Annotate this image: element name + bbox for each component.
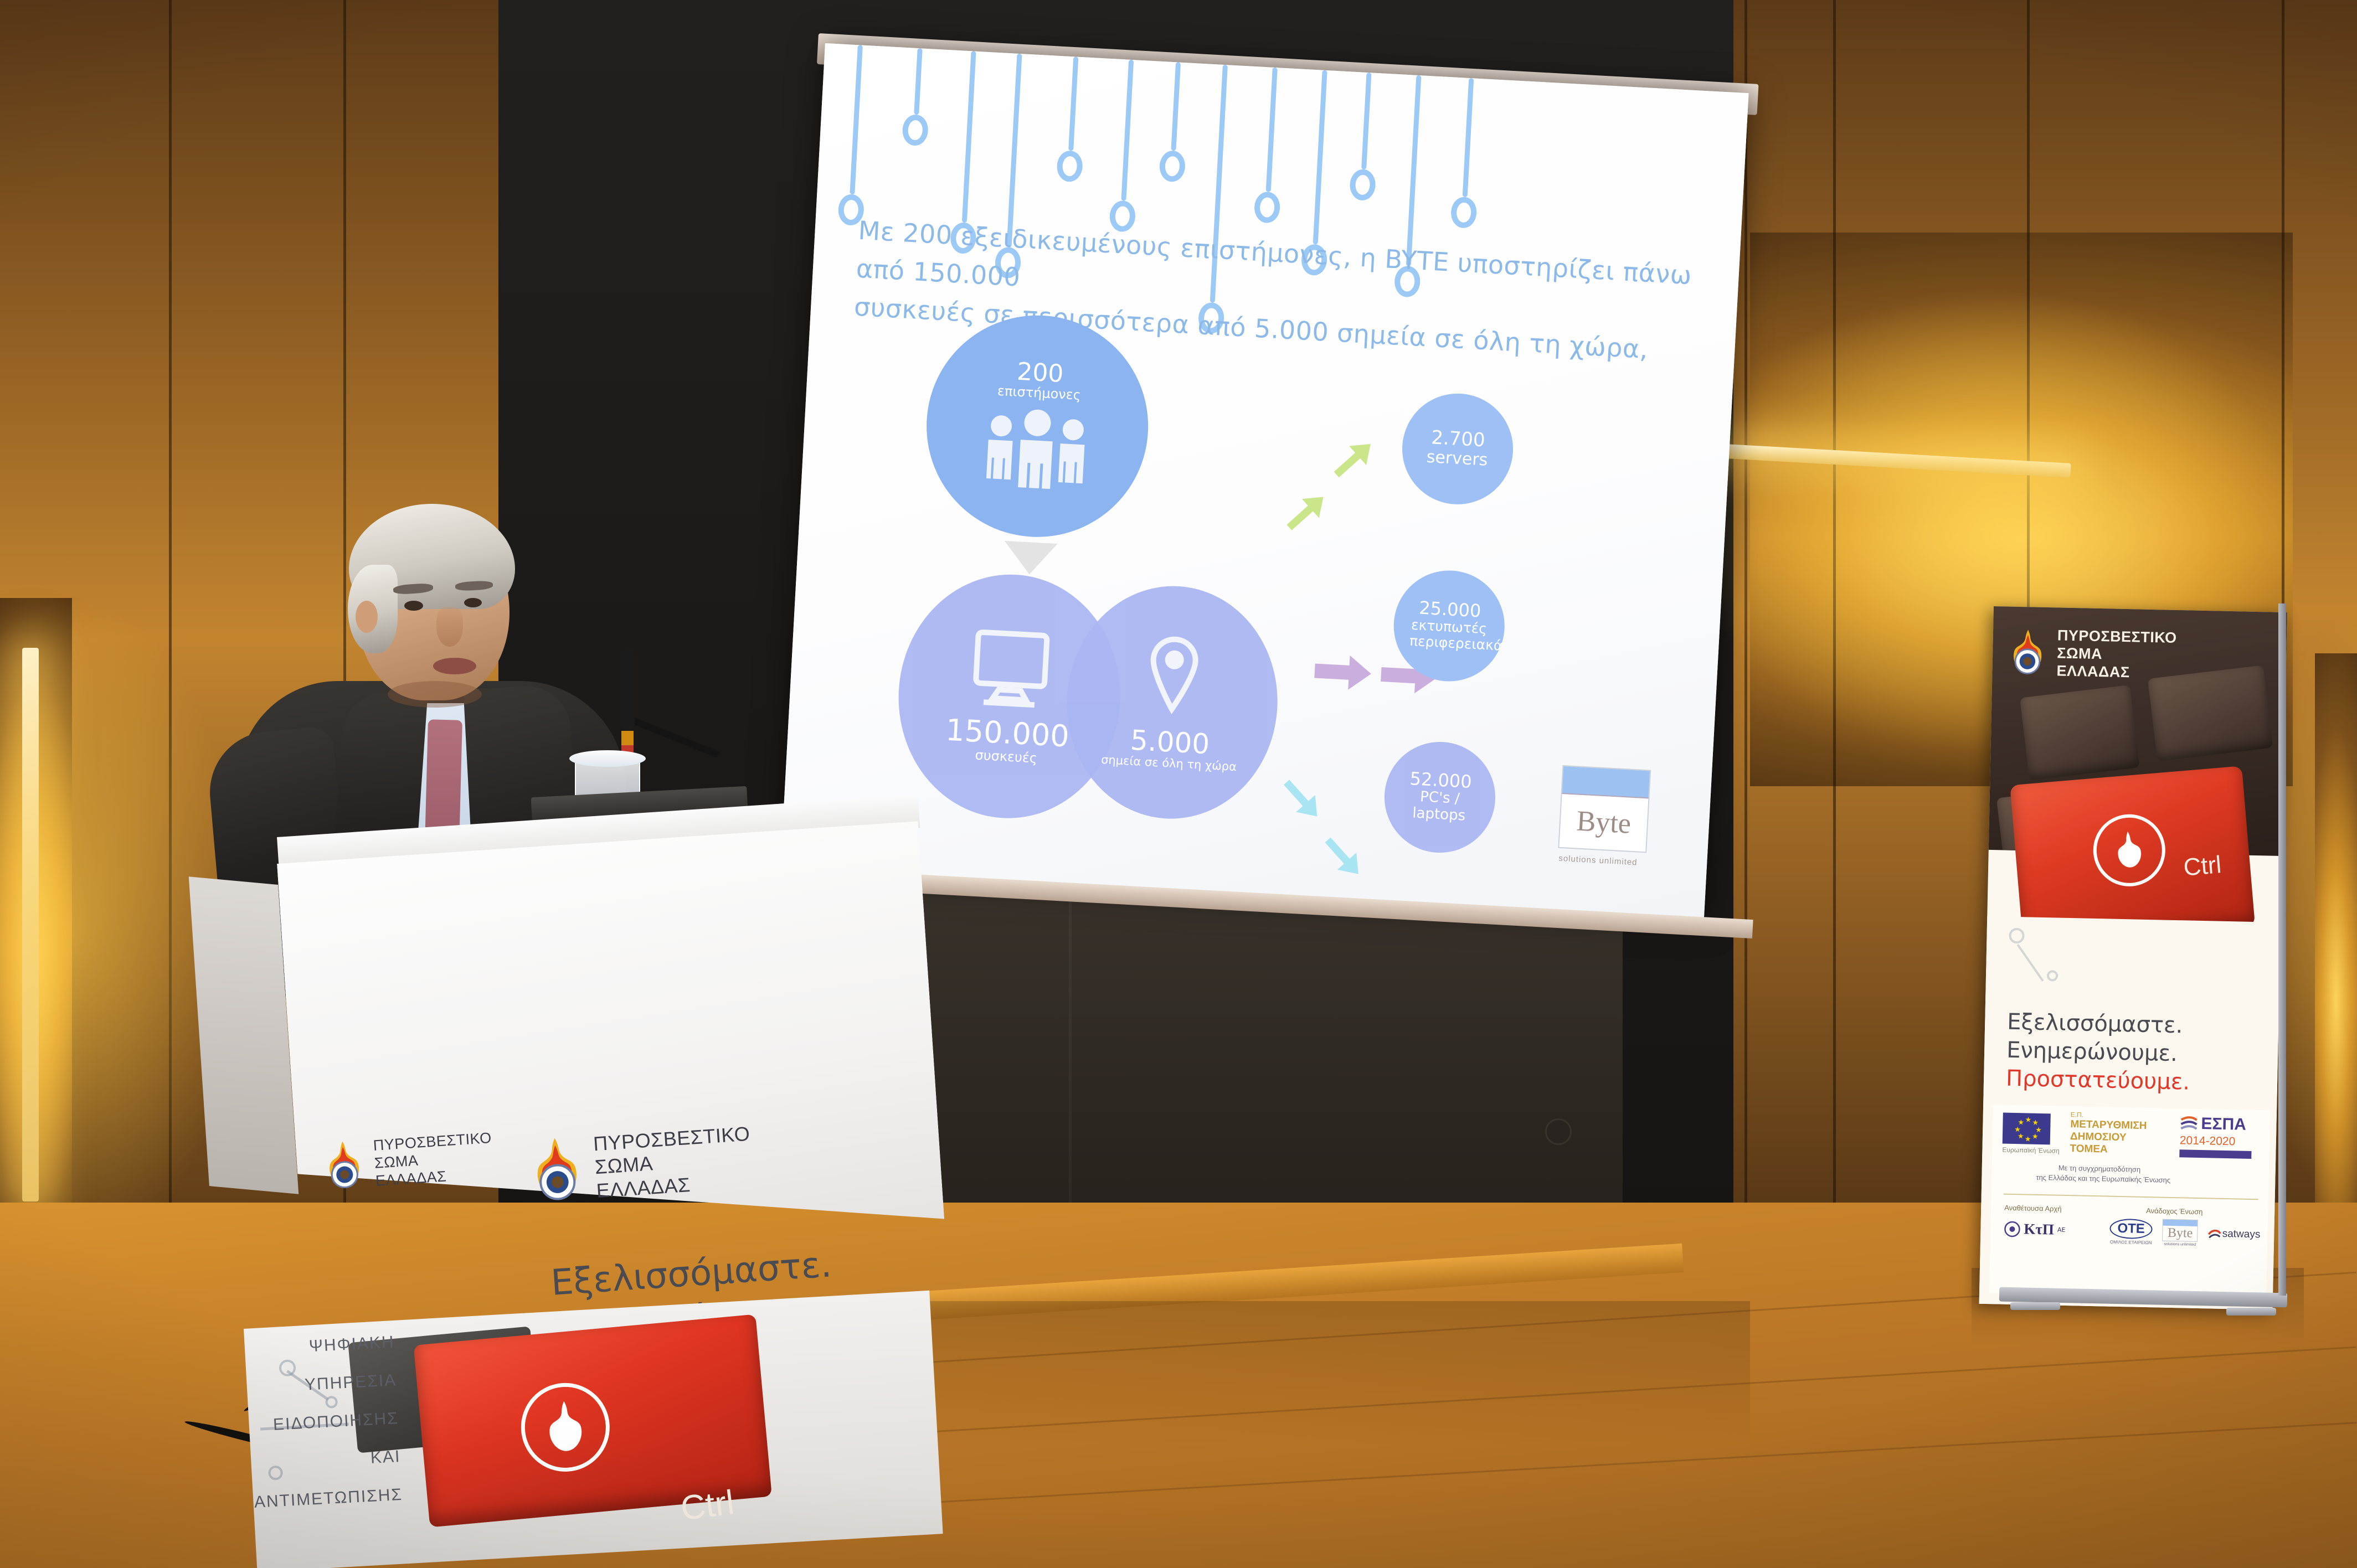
fire-service-emblem-icon bbox=[2005, 628, 2050, 678]
byte-logo-word: Byte bbox=[1559, 794, 1648, 852]
banner-lower-panel: Εξελισσόμαστε. Ενημερώνουμε. Προστατεύου… bbox=[1979, 916, 2281, 1310]
org-line-2: ΣΩΜΑ bbox=[2057, 644, 2176, 664]
authority-suffix: ΑΕ bbox=[2057, 1226, 2066, 1234]
espa-logo: ΕΣΠΑ 2014-2020 bbox=[2179, 1114, 2252, 1159]
banner-foot bbox=[2226, 1308, 2276, 1316]
presentation-slide: Με 200 εξειδικευμένους επιστήμονες, η BY… bbox=[780, 43, 1749, 922]
funding-divider bbox=[2004, 1194, 2258, 1200]
cofunding-line-1: Με τη συγχρηματοδότηση bbox=[2058, 1164, 2141, 1174]
circuit-drip-icon bbox=[1108, 59, 1144, 243]
byte-logo: Byte bbox=[1558, 765, 1651, 853]
byte-logo-bar bbox=[1562, 766, 1650, 798]
rollup-banner: ΠΥΡΟΣΒΕΣΤΙΚΟ ΣΩΜΑ ΕΛΛΑΔΑΣ Ctrl Εξελισσόμ… bbox=[1979, 606, 2287, 1310]
podium-org-logo: ΠΥΡΟΣΒΕΣΤΙΚΟ ΣΩΜΑ ΕΛΛΑΔΑΣ bbox=[524, 1122, 754, 1208]
mic-indicator bbox=[621, 731, 634, 745]
circuit-drip-icon bbox=[1056, 56, 1088, 195]
fire-service-emblem-icon bbox=[524, 1134, 589, 1206]
bubble-caption: PC's / laptops bbox=[1406, 788, 1474, 825]
espa-period: 2014-2020 bbox=[2180, 1134, 2236, 1148]
wall-speaker-grill bbox=[1545, 1118, 1572, 1145]
byte-logo-subtitle: solutions unlimited bbox=[1558, 854, 1638, 868]
contractor-satways: satways bbox=[2207, 1227, 2260, 1241]
bubble-servers: 2.700 servers bbox=[1399, 391, 1516, 508]
circuit-drip-icon bbox=[1253, 67, 1288, 234]
bubble-caption: εκτυπωτές περιφερειακά bbox=[1409, 617, 1488, 653]
ctrl-key-label: Ctrl bbox=[678, 1483, 737, 1529]
bubble-number: 5.000 bbox=[1130, 725, 1211, 759]
arrow-purple-right-icon bbox=[1311, 649, 1375, 695]
fire-service-emblem-icon bbox=[320, 1139, 368, 1193]
circuit-drip-icon bbox=[1349, 72, 1381, 212]
satways-mark-icon bbox=[2207, 1227, 2221, 1240]
banner-key bbox=[2020, 685, 2139, 781]
eye bbox=[404, 601, 423, 611]
banner-funding-block: ★★ ★★ ★★ ★★ Ευρωπαϊκή Ένωση Ε.Π. ΜΕΤΑΡΥΘ… bbox=[1989, 1105, 2270, 1298]
bubble-number: 2.700 bbox=[1430, 428, 1485, 451]
espa-name: ΕΣΠΑ bbox=[2201, 1115, 2246, 1134]
podium: ΠΥΡΟΣΒΕΣΤΙΚΟ ΣΩΜΑ ΕΛΛΑΔΑΣ ΠΥΡΟΣΒΕΣΤΙΚΟ Σ… bbox=[266, 814, 919, 1568]
tagline-line-3: Προστατεύουμε. bbox=[2006, 1065, 2190, 1097]
bubble-caption: συσκευές bbox=[975, 747, 1038, 766]
wall-seam bbox=[1744, 0, 1747, 1262]
wall-seam bbox=[169, 0, 172, 1307]
banner-org-name: ΠΥΡΟΣΒΕΣΤΙΚΟ ΣΩΜΑ ΕΛΛΑΔΑΣ bbox=[2056, 627, 2177, 682]
contractor-logos: OTE ΟΜΙΛΟΣ ΕΤΑΙΡΕΙΩΝ Byte solutions unli… bbox=[2109, 1218, 2261, 1249]
authority-name: ΚτΠ bbox=[2024, 1220, 2054, 1238]
bubble-number: 150.000 bbox=[945, 714, 1070, 752]
banner-tagline: Εξελισσόμαστε. Ενημερώνουμε. Προστατεύου… bbox=[2006, 1008, 2191, 1097]
wall-panel-far-right bbox=[2315, 653, 2357, 1285]
contractor-label: Ανάδοχος Ένωση bbox=[2146, 1206, 2203, 1216]
circuit-drip-icon bbox=[1450, 78, 1484, 239]
arrow-green-up-icon bbox=[1322, 436, 1378, 492]
banner-foot bbox=[2010, 1302, 2060, 1310]
eu-flag-icon: ★★ ★★ ★★ ★★ bbox=[2003, 1113, 2051, 1145]
podium-org-name: ΠΥΡΟΣΒΕΣΤΙΚΟ ΣΩΜΑ ΕΛΛΑΔΑΣ bbox=[593, 1122, 754, 1203]
projection-screen: Με 200 εξειδικευμένους επιστήμονες, η BY… bbox=[780, 43, 1749, 922]
bubble-scientists: 200 επιστήμονες bbox=[921, 310, 1154, 543]
wall-seam bbox=[1833, 0, 1836, 1262]
podium-org-name-small: ΠΥΡΟΣΒΕΣΤΙΚΟ ΣΩΜΑ ΕΛΛΑΔΑΣ bbox=[373, 1129, 495, 1190]
banner-org-logo: ΠΥΡΟΣΒΕΣΤΙΚΟ ΣΩΜΑ ΕΛΛΑΔΑΣ bbox=[2005, 626, 2177, 682]
bubble-caption: σημεία σε όλη τη χώρα bbox=[1101, 753, 1237, 773]
contractor-name: OTE bbox=[2109, 1219, 2153, 1240]
org-line-3: ΕΛΛΑΔΑΣ bbox=[2056, 662, 2176, 682]
authority-label: Αναθέτουσα Αρχή bbox=[2004, 1204, 2062, 1213]
circuit-drip-icon bbox=[1158, 61, 1191, 193]
floor-shadow bbox=[864, 1301, 1750, 1445]
cofunding-line-2: της Ελλάδας και της Ευρωπαϊκής Ένωσης bbox=[2036, 1173, 2170, 1184]
circuit-drip-icon bbox=[837, 44, 873, 228]
eye bbox=[464, 598, 482, 607]
nose bbox=[436, 607, 463, 647]
contractor-name: satways bbox=[2222, 1227, 2260, 1240]
contractor-ote: OTE ΟΜΙΛΟΣ ΕΤΑΙΡΕΙΩΝ bbox=[2109, 1219, 2153, 1246]
ktp-mark-icon bbox=[2004, 1220, 2021, 1237]
banner-pole bbox=[2278, 604, 2286, 1296]
bubble-caption: servers bbox=[1426, 447, 1488, 470]
bubble-caption: επιστήμονες bbox=[997, 384, 1081, 404]
wall-light-strip-left bbox=[22, 648, 39, 1201]
contractor-sub: solutions unlimited bbox=[2162, 1242, 2198, 1247]
mic-stem bbox=[625, 714, 719, 758]
contractor-byte: Byte solutions unlimited bbox=[2162, 1219, 2198, 1247]
circuit-drip-icon bbox=[901, 48, 933, 159]
mic-head bbox=[620, 648, 635, 731]
op-line-2: ΔΗΜΟΣΙΟΥ bbox=[2070, 1131, 2147, 1144]
map-pin-icon bbox=[1141, 633, 1206, 720]
contractor-sub: ΟΜΙΛΟΣ ΕΤΑΙΡΕΙΩΝ bbox=[2109, 1240, 2153, 1246]
authority-logo: ΚτΠ ΑΕ bbox=[2004, 1220, 2066, 1239]
bubble-number: 200 bbox=[1016, 359, 1064, 388]
op-line-1: ΜΕΤΑΡΥΘΜΙΣΗ bbox=[2070, 1118, 2147, 1132]
podium-service-text: ΨΗΦΙΑΚΗ ΥΠΗΡΕΣΙΑ ΕΙΔΟΠΟΙΗΣΗΣ ΚΑΙ ΑΝΤΙΜΕΤ… bbox=[161, 1323, 403, 1526]
flame-badge-icon bbox=[2091, 812, 2168, 889]
monitor-icon bbox=[964, 626, 1057, 713]
espa-swoosh-icon bbox=[2180, 1115, 2198, 1132]
circuit-node-icon bbox=[2047, 970, 2058, 981]
espa-bar bbox=[2179, 1149, 2251, 1159]
contractor-name: Byte bbox=[2163, 1226, 2198, 1241]
people-group-icon bbox=[976, 406, 1097, 495]
arrow-cyan-down-icon bbox=[1271, 766, 1327, 822]
ear bbox=[356, 601, 378, 633]
arrow-cyan-down-icon bbox=[1313, 824, 1368, 880]
tagline-line-1: Εξελισσόμαστε. bbox=[2007, 1008, 2191, 1040]
water-glass-rim bbox=[569, 750, 646, 767]
tagline-line-2: Ενημερώνουμε. bbox=[2006, 1036, 2191, 1069]
triangle-pointer-icon bbox=[1003, 541, 1058, 576]
mouth bbox=[433, 658, 476, 674]
circuit-node-icon bbox=[2009, 928, 2025, 944]
op-program-block: Ε.Π. ΜΕΤΑΡΥΘΜΙΣΗ ΔΗΜΟΣΙΟΥ ΤΟΜΕΑ bbox=[2070, 1111, 2147, 1157]
op-line-3: ΤΟΜΕΑ bbox=[2070, 1143, 2146, 1157]
arrow-green-up-icon bbox=[1275, 489, 1331, 545]
org-line-1: ΠΥΡΟΣΒΕΣΤΙΚΟ bbox=[2057, 627, 2177, 647]
chin-shadow bbox=[388, 681, 482, 708]
conference-photo-scene: Με 200 εξειδικευμένους επιστήμονες, η BY… bbox=[0, 0, 2357, 1568]
eu-flag-caption: Ευρωπαϊκή Ένωση bbox=[2002, 1146, 2059, 1155]
banner-ctrl-label: Ctrl bbox=[2183, 851, 2222, 882]
circuit-trace bbox=[2017, 944, 2044, 982]
bubble-pcs: 52.000 PC's / laptops bbox=[1382, 739, 1499, 856]
